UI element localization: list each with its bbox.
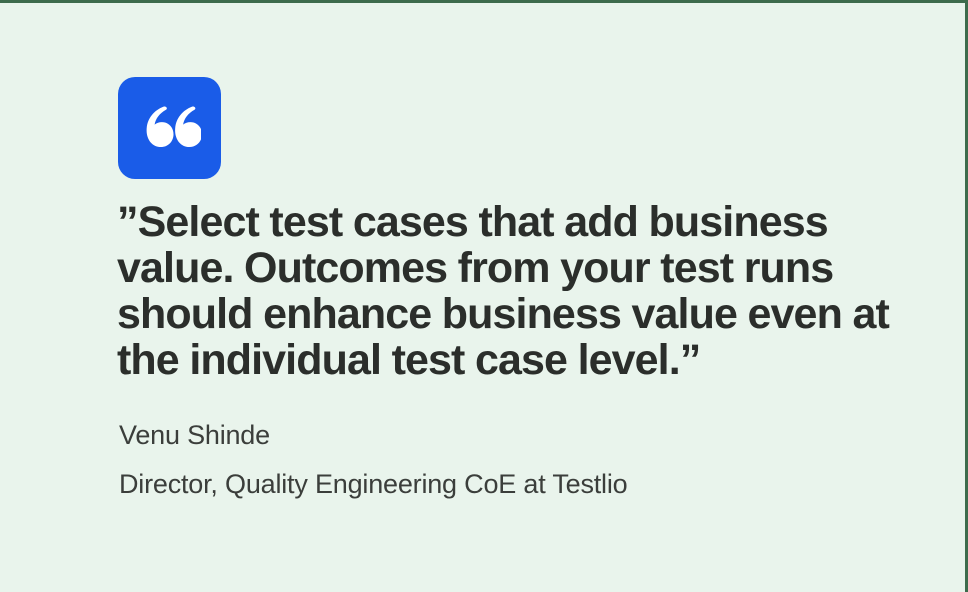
quote-badge [118,77,221,179]
quote-text: ”Select test cases that add business val… [117,199,907,383]
testimonial-card: ”Select test cases that add business val… [0,0,968,592]
quotation-mark-icon [139,105,201,151]
attribution: Venu Shinde Director, Quality Engineerin… [119,422,909,498]
author-name: Venu Shinde [119,422,909,449]
author-title: Director, Quality Engineering CoE at Tes… [119,471,909,498]
